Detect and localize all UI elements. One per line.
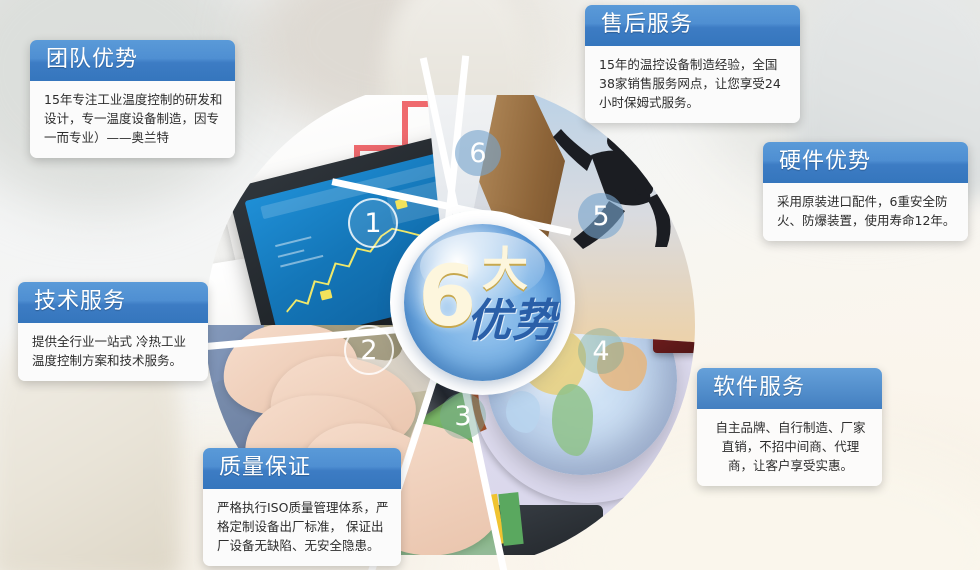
segment-number-2[interactable]: 2	[344, 325, 394, 375]
callout-hardware-title: 硬件优势	[763, 142, 968, 183]
callout-technical-title: 技术服务	[18, 282, 208, 323]
segment-number-5[interactable]: 5	[578, 193, 624, 239]
callout-hardware-advantage[interactable]: 硬件优势 采用原装进口配件，6重安全防火、防爆装置，使用寿命12年。	[763, 142, 968, 241]
segment-number-4[interactable]: 4	[578, 328, 624, 374]
callout-team-advantage[interactable]: 团队优势 15年专注工业温度控制的研发和设计，专一温度设备制造，因专一而专业）—…	[30, 40, 235, 158]
segment-number-1[interactable]: 1	[348, 198, 398, 248]
segment-number-3[interactable]: 3	[440, 393, 486, 439]
callout-team-body: 15年专注工业温度控制的研发和设计，专一温度设备制造，因专一而专业）——奥兰特	[30, 81, 235, 158]
callout-after-sales-body: 15年的温控设备制造经验，全国38家销售服务网点，让您享受24小时保姆式服务。	[585, 46, 800, 123]
callout-team-title: 团队优势	[30, 40, 235, 81]
callout-after-sales-title: 售后服务	[585, 5, 800, 46]
callout-quality-body: 严格执行ISO质量管理体系，严格定制设备出厂标准， 保证出厂设备无缺陷、无安全隐…	[203, 489, 401, 566]
callout-technical-service[interactable]: 技术服务 提供全行业一站式 冷热工业温度控制方案和技术服务。	[18, 282, 208, 381]
callout-software-body: 自主品牌、自行制造、厂家直销，不招中间商、代理商，让客户享受实惠。	[697, 409, 882, 486]
center-emblem: 6 大 优势	[404, 224, 561, 381]
callout-software-title: 软件服务	[697, 368, 882, 409]
infographic-canvas: 6 大 优势 1 2 3 4 5 6 团队优势 15年专注工业温度控制的研发和设…	[0, 0, 980, 570]
callout-hardware-body: 采用原装进口配件，6重安全防火、防爆装置，使用寿命12年。	[763, 183, 968, 241]
callout-quality-assurance[interactable]: 质量保证 严格执行ISO质量管理体系，严格定制设备出厂标准， 保证出厂设备无缺陷…	[203, 448, 401, 566]
segment-number-6[interactable]: 6	[455, 130, 501, 176]
callout-quality-title: 质量保证	[203, 448, 401, 489]
callout-after-sales[interactable]: 售后服务 15年的温控设备制造经验，全国38家销售服务网点，让您享受24小时保姆…	[585, 5, 800, 123]
callout-technical-body: 提供全行业一站式 冷热工业温度控制方案和技术服务。	[18, 323, 208, 381]
callout-software-service[interactable]: 软件服务 自主品牌、自行制造、厂家直销，不招中间商、代理商，让客户享受实惠。	[697, 368, 882, 486]
emblem-word: 优势	[466, 298, 558, 343]
emblem-unit: 大	[482, 246, 528, 292]
